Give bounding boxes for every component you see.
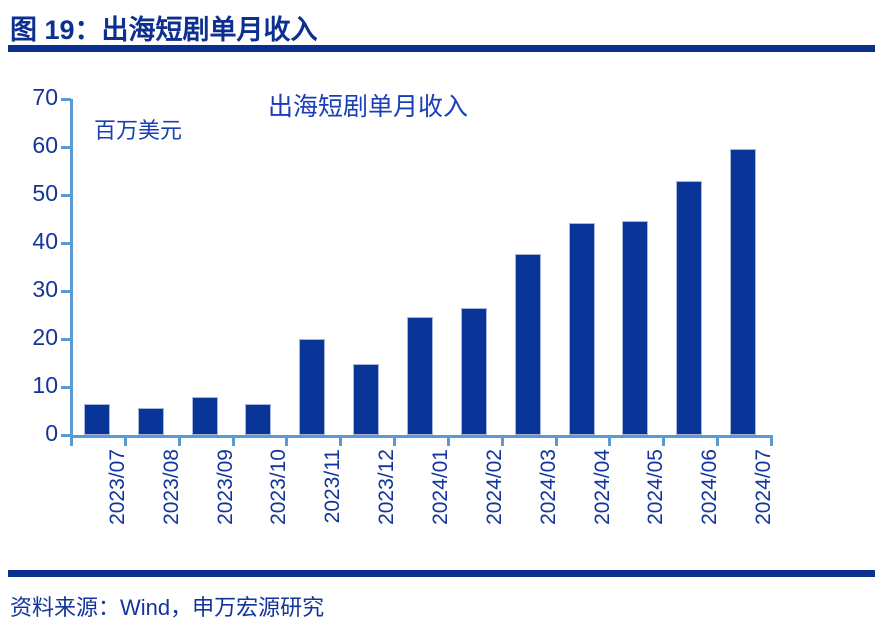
bar (569, 223, 595, 435)
plot-area (70, 99, 770, 435)
y-tick-mark (61, 242, 71, 245)
x-tick-mark (662, 435, 665, 446)
x-tick-mark (178, 435, 181, 446)
x-tick-label: 2023/08 (160, 449, 184, 525)
y-tick-mark (61, 338, 71, 341)
x-tick-label: 2023/12 (375, 449, 399, 525)
y-tick-label: 0 (2, 422, 58, 445)
x-tick-label: 2024/03 (537, 449, 561, 525)
bar (622, 221, 648, 435)
figure-title: 图 19：出海短剧单月收入 (10, 8, 318, 47)
x-tick-mark (608, 435, 611, 446)
bar (84, 404, 110, 435)
x-tick-label: 2024/04 (591, 449, 615, 525)
bar (730, 149, 756, 435)
x-tick-label: 2023/11 (321, 449, 345, 523)
bar (407, 317, 433, 435)
bar (353, 364, 379, 435)
y-tick-label: 10 (2, 374, 58, 397)
x-tick-mark (285, 435, 288, 446)
x-tick-label: 2024/07 (752, 449, 776, 525)
y-tick-label: 20 (2, 326, 58, 349)
bar (515, 254, 541, 435)
bar (676, 181, 702, 435)
y-tick-label: 40 (2, 230, 58, 253)
y-tick-mark (61, 146, 71, 149)
x-tick-mark (232, 435, 235, 446)
chart-container: 出海短剧单月收入 百万美元 706050403020100 2023/07202… (0, 55, 882, 565)
bar (299, 339, 325, 435)
x-tick-mark (501, 435, 504, 446)
y-tick-mark (61, 290, 71, 293)
x-tick-label: 2024/02 (483, 449, 507, 525)
bar (192, 397, 218, 435)
y-tick-mark (61, 194, 71, 197)
y-axis-labels: 706050403020100 (0, 55, 58, 455)
x-tick-label: 2024/06 (698, 449, 722, 525)
y-tick-label: 70 (2, 86, 58, 109)
x-tick-mark (555, 435, 558, 446)
y-tick-label: 30 (2, 278, 58, 301)
x-tick-label: 2023/07 (106, 449, 130, 525)
footer-divider (8, 570, 875, 577)
source-note: 资料来源：Wind，申万宏源研究 (10, 590, 324, 622)
x-tick-mark (339, 435, 342, 446)
title-divider (8, 45, 875, 52)
x-tick-mark (716, 435, 719, 446)
x-tick-mark (393, 435, 396, 446)
y-tick-mark (61, 98, 71, 101)
x-tick-mark (70, 435, 73, 446)
x-tick-label: 2023/09 (214, 449, 238, 525)
y-tick-mark (61, 386, 71, 389)
x-tick-mark (447, 435, 450, 446)
bar (245, 404, 271, 435)
x-tick-label: 2024/01 (429, 449, 453, 525)
x-tick-mark (770, 435, 773, 446)
x-tick-label: 2024/05 (644, 449, 668, 525)
x-tick-label: 2023/10 (267, 449, 291, 525)
bar (461, 308, 487, 435)
x-tick-mark (124, 435, 127, 446)
bar (138, 408, 164, 435)
y-tick-label: 60 (2, 134, 58, 157)
y-tick-label: 50 (2, 182, 58, 205)
